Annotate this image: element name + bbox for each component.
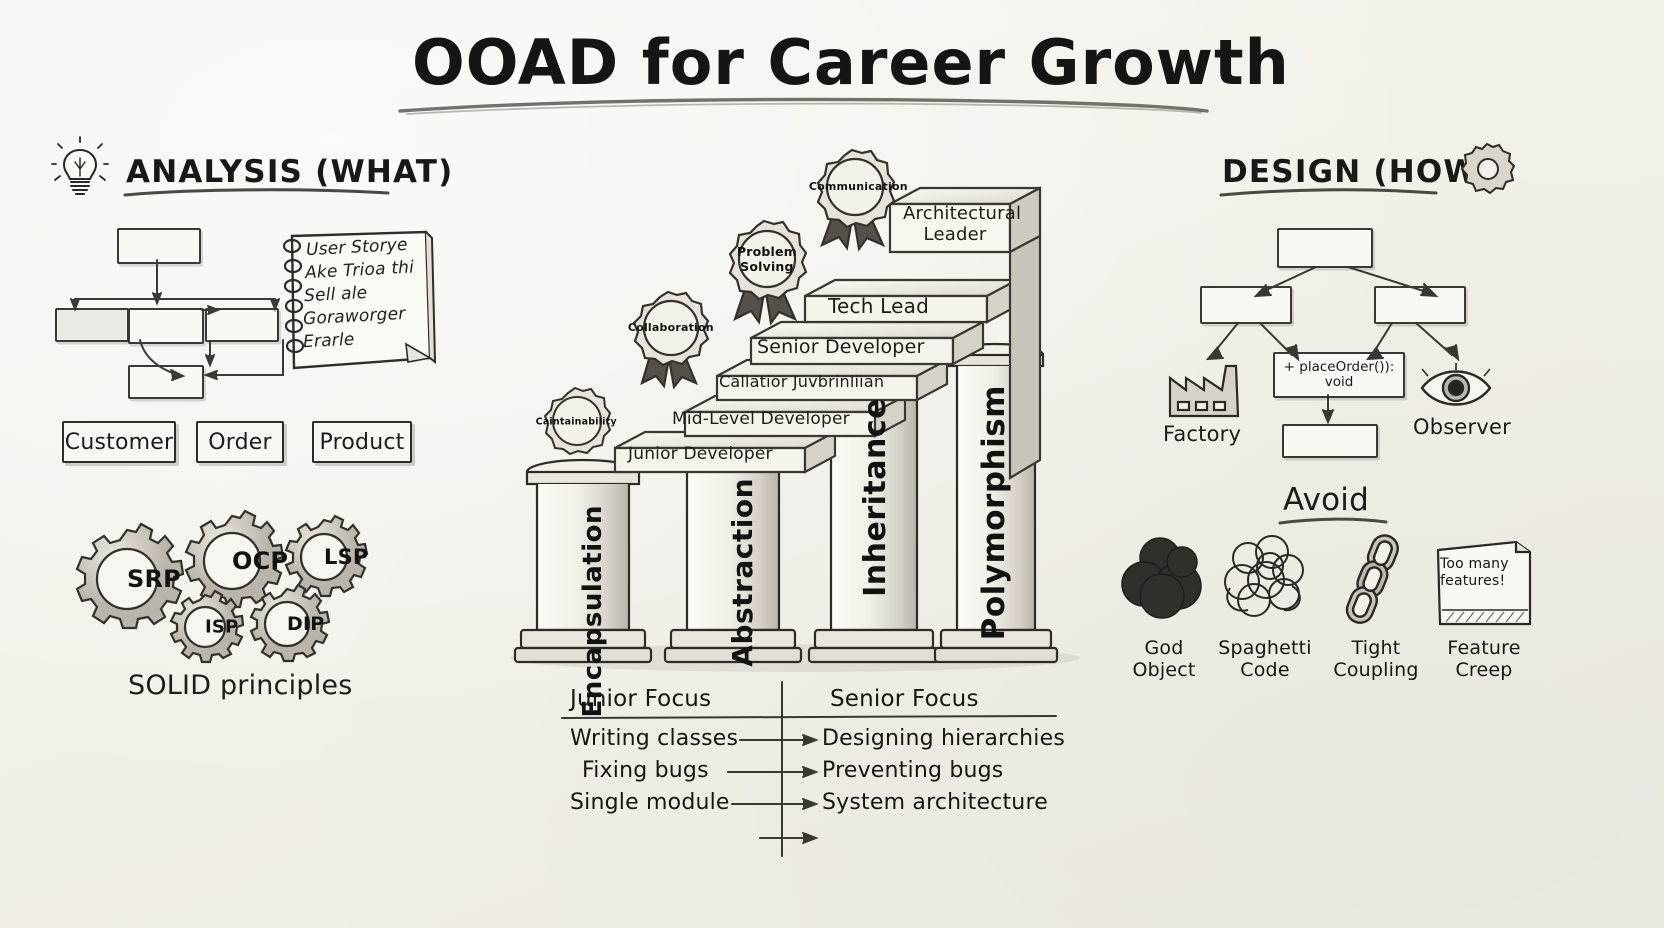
- avoid-heading-underline: [1277, 516, 1389, 528]
- avoid-label-god-object-line2: Object: [1112, 660, 1216, 682]
- avoid-label-god-object: God Object: [1112, 638, 1216, 682]
- focus-row-senior-2: Preventing bugs: [822, 758, 1003, 783]
- avoid-label-spaghetti-code-line1: Spaghetti: [1210, 638, 1320, 660]
- avoid-label-tight-coupling: Tight Coupling: [1324, 638, 1428, 682]
- avoid-label-tight-coupling-line1: Tight: [1324, 638, 1428, 660]
- step-label-tech-lead: Tech Lead: [828, 294, 929, 318]
- avoid-label-feature-creep: Feature Creep: [1432, 638, 1536, 682]
- feature-creep-note-line1: Too many: [1440, 556, 1532, 573]
- factory-icon: [1164, 358, 1244, 420]
- badge-label-problem-solving: Problem Solving: [721, 244, 813, 274]
- focus-row-junior-3: Single module: [570, 790, 730, 815]
- avoid-label-god-object-line1: God: [1112, 638, 1216, 660]
- badge-label-collaboration: Collaboration: [626, 322, 716, 334]
- avoid-label-feature-creep-line1: Feature: [1432, 638, 1536, 660]
- badge-label-communication: Communication: [809, 181, 901, 193]
- pattern-label-factory: Factory: [1163, 422, 1241, 446]
- notepad-line-4: Goraworger: [303, 303, 428, 329]
- title-underline: [395, 95, 1215, 117]
- flowchart-connectors: [45, 255, 290, 405]
- analysis-heading: ANALYSIS (WHAT): [126, 154, 454, 190]
- design-heading: DESIGN (HOW): [1222, 154, 1494, 190]
- notepad-line-1: User Storye: [306, 234, 428, 260]
- step-label-architectural-leader-text: Architectural Leader: [903, 203, 1021, 245]
- avoid-heading: Avoid: [1283, 482, 1369, 518]
- entity-box-order: Order: [196, 421, 284, 463]
- focus-row-senior-3: System architecture: [822, 790, 1048, 815]
- step-label-junior-developer: Junior Developer: [628, 444, 773, 464]
- avoid-label-spaghetti-code-line2: Code: [1210, 660, 1320, 682]
- page-title: OOAD for Career Growth: [412, 26, 1290, 99]
- avoid-label-spaghetti-code: Spaghetti Code: [1210, 638, 1320, 682]
- badge-label-maintainability: Caintainability: [536, 418, 615, 429]
- notepad-line-5: Erarle: [303, 326, 428, 352]
- lightbulb-icon: [52, 136, 108, 200]
- pillar-label-abstraction: Abstraction: [726, 478, 759, 667]
- blob-icon: [1122, 532, 1208, 628]
- focus-row-junior-1: Writing classes: [570, 726, 738, 751]
- gear-icon: [1458, 142, 1516, 200]
- focus-row-senior-1: Designing hierarchies: [822, 726, 1065, 751]
- feature-creep-note-line2: features!: [1440, 573, 1532, 590]
- design-heading-underline: [1218, 186, 1440, 200]
- tangle-icon: [1218, 530, 1314, 626]
- pillar-label-inheritance: Inheritance: [858, 398, 893, 597]
- step-label-senior-developer: Senior Developer: [757, 336, 924, 358]
- notepad-line-3: Sell ale: [304, 280, 428, 306]
- avoid-label-feature-creep-line2: Creep: [1432, 660, 1536, 682]
- avoid-label-tight-coupling-line2: Coupling: [1324, 660, 1428, 682]
- eye-icon: [1418, 360, 1494, 414]
- solid-principles-caption: SOLID principles: [128, 670, 353, 701]
- pillar-label-polymorphism: Polymorphism: [976, 385, 1012, 640]
- entity-box-customer: Customer: [62, 421, 176, 463]
- step-label-mid-level-developer: Mid-Level Developer: [672, 409, 850, 429]
- chain-icon: [1330, 528, 1420, 628]
- notepad-text: User Storye Ake Trioa thi Sell ale Goraw…: [303, 232, 427, 349]
- feature-creep-note-text: Too many features!: [1440, 556, 1532, 590]
- step-label-architectural-leader: Architectural Leader: [903, 203, 1007, 245]
- notepad-line-2: Ake Trioa thi: [305, 257, 428, 283]
- entity-box-product: Product: [312, 421, 412, 463]
- pattern-label-observer: Observer: [1413, 415, 1511, 439]
- step-label-collaboration-garbled: Callatior Juvbrinliian: [719, 372, 884, 391]
- analysis-heading-underline: [122, 186, 392, 200]
- focus-row-junior-2: Fixing bugs: [582, 758, 709, 783]
